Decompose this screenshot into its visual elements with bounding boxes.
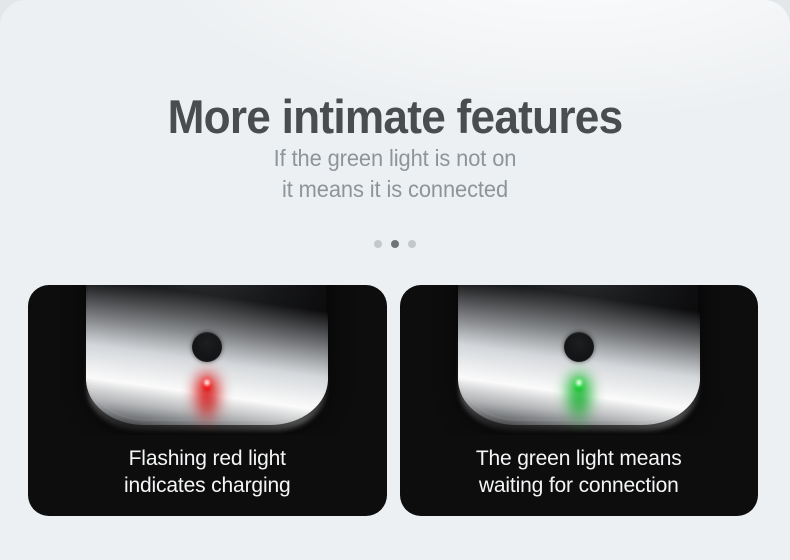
pagination-dot-2[interactable] — [391, 240, 399, 248]
page-subtitle: If the green light is not on it means it… — [20, 143, 771, 205]
green-led-highlight — [577, 380, 581, 385]
waiting-card-caption: The green light means waiting for connec… — [400, 445, 759, 499]
pagination-dot-3[interactable] — [408, 240, 416, 248]
promo-panel: More intimate features If the green ligh… — [0, 0, 790, 560]
charging-state-card[interactable]: Flashing red light indicates charging — [28, 285, 387, 516]
page-title: More intimate features — [24, 93, 767, 141]
charging-card-caption-line-1: Flashing red light — [28, 445, 387, 472]
waiting-card-caption-line-1: The green light means — [400, 445, 759, 472]
pagination-dots[interactable] — [0, 240, 790, 248]
charging-card-caption: Flashing red light indicates charging — [28, 445, 387, 499]
pagination-dot-1[interactable] — [374, 240, 382, 248]
charging-card-caption-line-2: indicates charging — [28, 472, 387, 499]
red-led-highlight — [205, 380, 209, 385]
waiting-state-card[interactable]: The green light means waiting for connec… — [400, 285, 759, 516]
pairing-button-icon — [192, 332, 222, 362]
waiting-case-image — [400, 285, 759, 435]
waiting-card-caption-line-2: waiting for connection — [400, 472, 759, 499]
charging-case-image — [28, 285, 387, 435]
feature-cards: Flashing red light indicates charging Th… — [28, 285, 758, 516]
page-subtitle-line-2: it means it is connected — [20, 174, 771, 205]
page-subtitle-line-1: If the green light is not on — [20, 143, 771, 174]
pairing-button-icon — [564, 332, 594, 362]
red-led — [187, 373, 227, 431]
green-led — [559, 373, 599, 431]
